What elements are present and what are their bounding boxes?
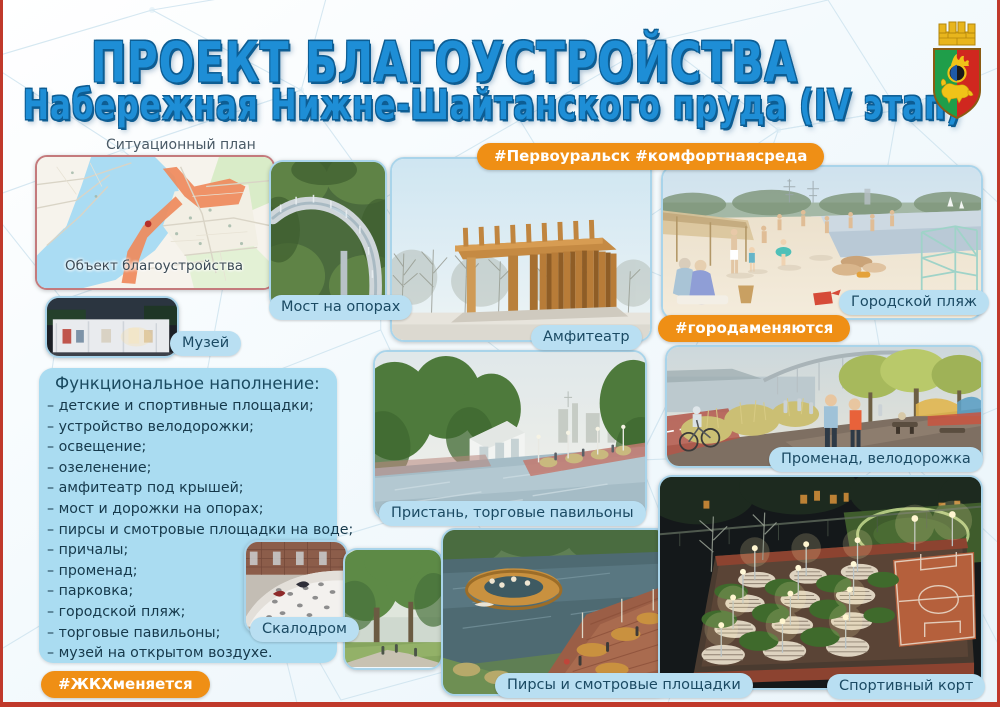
list-item: – мост и дорожки на опорах; <box>47 499 347 520</box>
photo-piers[interactable] <box>441 528 669 696</box>
list-item: – освещение; <box>47 437 347 458</box>
caption-beach: Городской пляж <box>839 290 989 315</box>
poster-root: ПРОЕКТ БЛАГОУСТРОЙСТВА Набережная Нижне-… <box>0 0 1000 707</box>
poster-header: ПРОЕКТ БЛАГОУСТРОЙСТВА Набережная Нижне-… <box>3 0 1000 130</box>
photo-amphitheatre[interactable] <box>390 157 652 342</box>
caption-pier-pavilions: Пристань, торговые павильоны <box>379 501 646 526</box>
tag-goroda[interactable]: #городаменяются <box>658 315 850 342</box>
list-item: – пирсы и смотровые площадки на воде; <box>47 520 347 541</box>
list-item: – музей на открытом воздухе. <box>47 643 347 664</box>
list-item: – променад; <box>47 561 347 582</box>
photo-pier-pavilions[interactable] <box>373 350 647 520</box>
photo-park[interactable] <box>343 548 443 670</box>
list-item: – устройство велодорожки; <box>47 417 347 438</box>
functional-content-heading: Функциональное наполнение: <box>55 374 320 393</box>
plan-object-label: Объект благоустройства <box>65 258 243 274</box>
coat-of-arms-icon <box>926 18 988 123</box>
caption-sportcourt: Спортивный корт <box>827 674 985 699</box>
caption-promenade: Променад, велодорожка <box>769 447 983 472</box>
caption-bridge: Мост на опорах <box>269 295 412 320</box>
caption-amphitheatre: Амфитеатр <box>531 325 642 350</box>
footer-accent-strip <box>3 702 1000 707</box>
list-item: – амфитеатр под крышей; <box>47 478 347 499</box>
list-item: – озеленение; <box>47 458 347 479</box>
situational-plan-label: Ситуационный план <box>106 137 256 153</box>
list-item: – детские и спортивные площадки; <box>47 396 347 417</box>
photo-bridge[interactable] <box>269 160 387 310</box>
list-item: – парковка; <box>47 581 347 602</box>
tag-jkh[interactable]: #ЖКХменяется <box>41 671 210 698</box>
page-subtitle: Набережная Нижне-Шайтанского пруда (IV э… <box>23 82 962 130</box>
caption-museum: Музей <box>170 331 241 356</box>
photo-sportcourt[interactable] <box>658 475 983 690</box>
list-item: – причалы; <box>47 540 347 561</box>
caption-climbing: Скалодром <box>250 617 359 642</box>
caption-piers: Пирсы и смотровые площадки <box>495 673 753 698</box>
tag-pervouralsk[interactable]: #Первоуральск #комфортнаясреда <box>477 143 824 170</box>
photo-museum[interactable] <box>45 296 179 358</box>
